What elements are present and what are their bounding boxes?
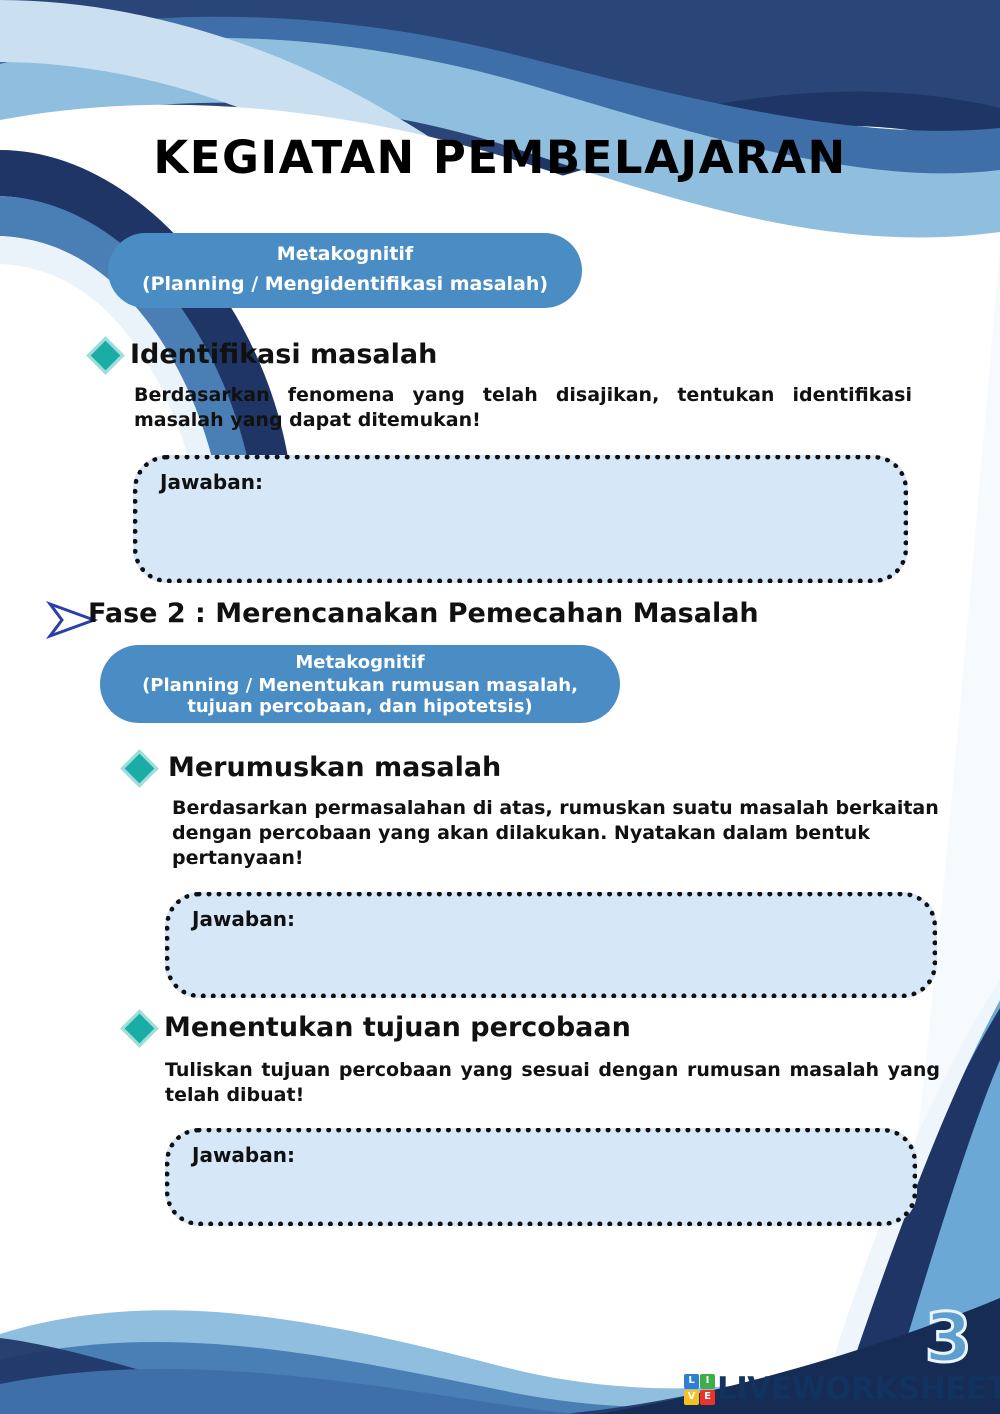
logo-wordmark: LIVEWORKSHEETS — [717, 1374, 1000, 1405]
page-number: 3 — [925, 1305, 972, 1373]
answer-box-merumuskan[interactable]: Jawaban: — [165, 892, 937, 998]
logo-tile-v: V — [684, 1390, 699, 1405]
logo-tile-l: L — [684, 1374, 699, 1389]
answer-label: Jawaban: — [192, 1143, 295, 1167]
badge-line-1: Metakognitif — [108, 243, 582, 267]
logo-tile-e: E — [700, 1390, 715, 1405]
diamond-bullet-icon-1 — [86, 336, 124, 374]
phase-label: Fase 2 : Merencanakan Pemecahan Masalah — [88, 598, 759, 629]
section-paragraph-tujuan: Tuliskan tujuan percobaan yang sesuai de… — [165, 1058, 940, 1108]
section-heading-identifikasi: Identifikasi masalah — [130, 339, 437, 370]
section-heading-merumuskan: Merumuskan masalah — [168, 752, 501, 783]
section-paragraph-merumuskan: Berdasarkan permasalahan di atas, rumusk… — [172, 796, 942, 871]
logo-tile-i: I — [700, 1374, 715, 1389]
diamond-bullet-icon-3 — [120, 1009, 158, 1047]
badge2-line-2: (Planning / Menentukan rumusan masalah, — [100, 675, 620, 697]
worksheet-page: KEGIATAN PEMBELAJARAN Metakognitif (Plan… — [0, 0, 1000, 1414]
badge2-line-1: Metakognitif — [100, 652, 620, 675]
badge-line-2: (Planning / Mengidentifikasi masalah) — [108, 273, 582, 297]
metakognitif-badge-2: Metakognitif (Planning / Menentukan rumu… — [100, 645, 620, 723]
metakognitif-badge-1: Metakognitif (Planning / Mengidentifikas… — [108, 233, 582, 308]
badge2-line-3: tujuan percobaan, dan hipotetsis) — [100, 696, 620, 718]
page-title: KEGIATAN PEMBELAJARAN — [0, 131, 1000, 184]
liveworksheets-logo: L I V E LIVEWORKSHEETS — [684, 1372, 1000, 1406]
section-paragraph-identifikasi: Berdasarkan fenomena yang telah disajika… — [134, 383, 912, 433]
answer-box-tujuan[interactable]: Jawaban: — [165, 1128, 917, 1226]
diamond-bullet-icon-2 — [120, 749, 158, 787]
answer-box-identifikasi[interactable]: Jawaban: — [133, 455, 908, 583]
logo-tiles-icon: L I V E — [684, 1374, 715, 1405]
section-heading-tujuan: Menentukan tujuan percobaan — [164, 1012, 631, 1043]
answer-label: Jawaban: — [192, 907, 295, 931]
answer-label: Jawaban: — [160, 470, 263, 494]
